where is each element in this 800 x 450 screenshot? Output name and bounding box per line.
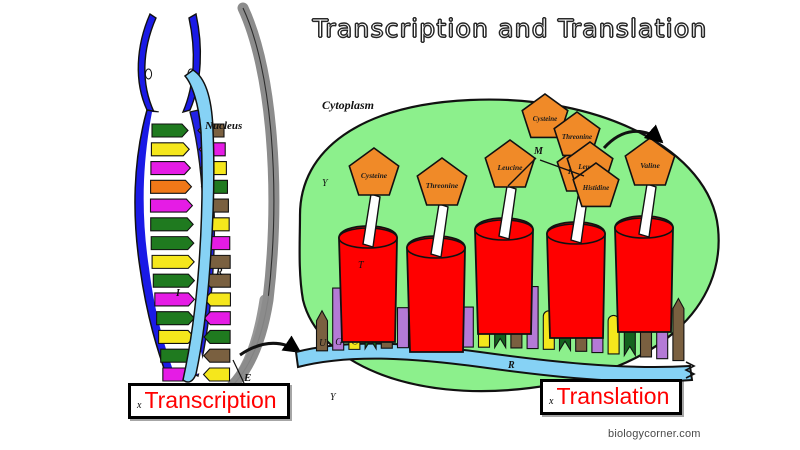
transcription-caption-text: Transcription	[144, 387, 276, 413]
amino-acid-label: Cysteine	[361, 171, 388, 180]
polypeptide-amino-acid-label: Threonine	[562, 133, 592, 141]
mrna-base	[398, 308, 409, 348]
cytoplasm-label: Cytoplasm	[322, 98, 374, 113]
watermark: biologycorner.com	[608, 428, 701, 440]
nuclear-envelope	[232, 8, 274, 386]
translation-caption-text: Translation	[556, 383, 669, 409]
diagram-canvas: I R R UGCA CysteineThreonineLeucineHisti…	[0, 0, 800, 450]
amino-acid-label: Leucine	[497, 163, 524, 172]
mrna-codon-letter: U	[319, 338, 327, 349]
dna-base-left	[152, 255, 194, 268]
page-title: Transcription and Translation	[300, 14, 720, 43]
dna-base-left	[152, 124, 188, 137]
peptide-bond-letter: M	[533, 146, 544, 157]
polypeptide-amino-acid-label: Histidine	[582, 184, 609, 192]
dna-base-left	[155, 293, 195, 306]
transcription-caption-sup: x	[137, 400, 141, 411]
dna-base-right	[204, 330, 230, 343]
amino-acid-label: Threonine	[426, 181, 459, 190]
nucleus-label: Nucleus	[205, 120, 242, 132]
amino-acid-label: Valine	[640, 161, 660, 170]
dna-base-left	[151, 218, 193, 231]
dna-base-right	[204, 368, 230, 381]
polypeptide-amino-acid-label: Cysteine	[533, 115, 558, 123]
dna-base-left	[153, 274, 194, 287]
translation-caption-sup: x	[549, 396, 553, 407]
cytoplasm-letter-bottom: Y	[330, 392, 337, 403]
dna-base-right	[204, 312, 230, 325]
dna-molecule: I	[135, 14, 230, 381]
dna-base-right	[204, 349, 230, 362]
mrna-letter-cytoplasm: R	[507, 360, 515, 371]
dna-base-left	[151, 237, 194, 250]
mrna-base	[673, 299, 684, 361]
dna-base-left	[150, 199, 192, 212]
dna-base-left	[151, 180, 192, 193]
mrna-letter-nucleus: R	[215, 267, 223, 278]
dna-base-left	[159, 330, 194, 343]
dna-base-left	[151, 143, 189, 156]
transcription-caption-box: x Transcription	[128, 383, 290, 419]
dna-base-left	[151, 162, 190, 175]
translation-caption-box: x Translation	[540, 379, 682, 415]
dna-base-left	[157, 312, 195, 325]
